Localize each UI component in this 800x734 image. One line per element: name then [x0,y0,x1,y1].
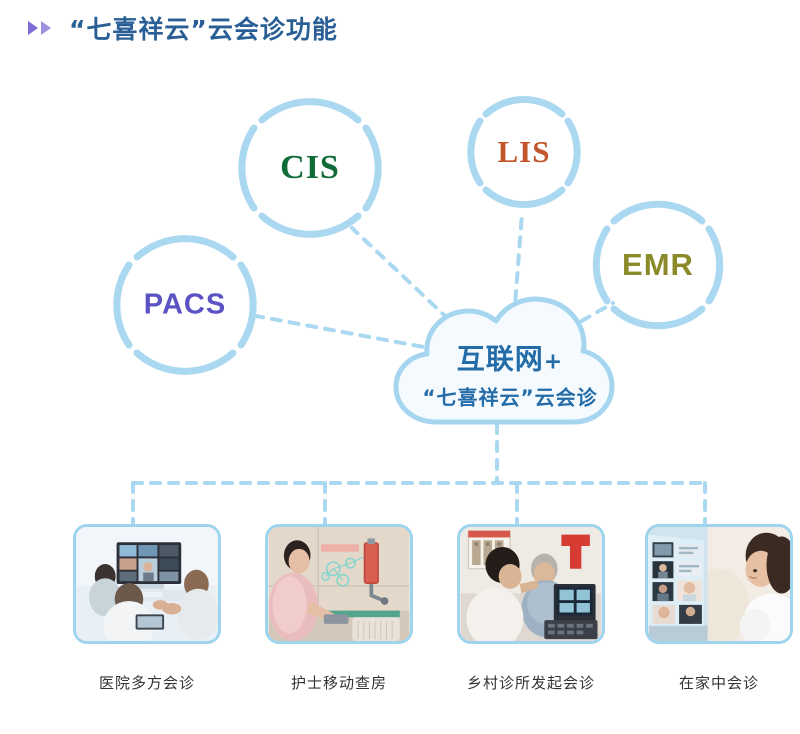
infographic-root: “七喜祥云”云会诊功能 [0,0,800,734]
cloud-title-main: 互联网 [457,343,544,376]
scenario-thumbnail-at-home[interactable] [645,524,793,644]
cloud-text: 互联网+ “七喜祥云”云会诊 [422,338,597,411]
image-nurse-mobile-rounds [268,527,410,641]
image-at-home-consult [648,527,790,641]
cloud-title-line2: “七喜祥云”云会诊 [422,382,597,411]
scenario-caption-hospital-multiparty: 医院多方会诊 [52,672,242,693]
scenario-caption-nurse-mobile-rounds: 护士移动查房 [244,672,434,693]
node-label-pacs: PACS [144,289,226,322]
connector-cloud-to-pacs [256,316,440,350]
scenario-caption-village-clinic: 乡村诊所发起会诊 [436,672,626,693]
image-hospital-multiparty [76,527,218,641]
scenario-thumbnail-nurse-mobile-rounds[interactable] [265,524,413,644]
scenario-caption-at-home: 在家中会诊 [624,672,800,693]
cloud-title-plus: + [544,350,563,375]
scenario-gallery: 医院多方会诊 [0,524,800,684]
cloud-title-line1: 互联网+ [422,338,597,378]
scenario-thumbnail-hospital-multiparty[interactable] [73,524,221,644]
image-village-clinic [460,527,602,641]
node-label-lis: LIS [498,134,551,170]
node-label-cis: CIS [280,149,340,187]
node-label-emr: EMR [622,247,694,283]
scenario-thumbnail-village-clinic[interactable] [457,524,605,644]
